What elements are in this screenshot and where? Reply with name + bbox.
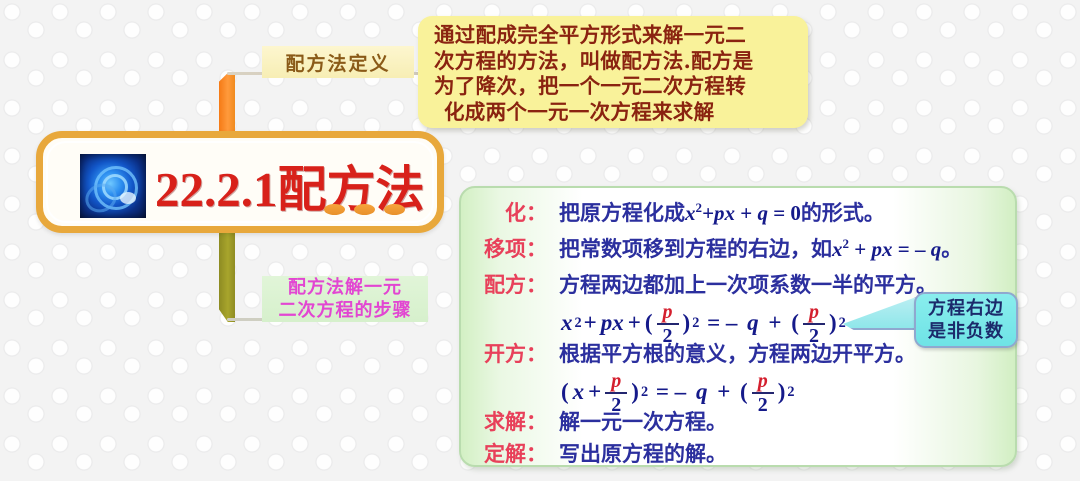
step-text-hua: 把原方程化成x2+px + q = 0的形式。: [559, 197, 885, 227]
definition-line-1: 通过配成完全平方形式来解一元二: [434, 23, 796, 49]
branch-label-definition-text: 配方法定义: [285, 49, 390, 76]
connector-to-steps: [219, 232, 235, 322]
mindmap-canvas: 22.2.1配方法 配方法定义 配方法解一元 二次方程的步骤 通过配成完全平方形…: [0, 0, 1080, 481]
step-row-qiujie: 求解： 解一元一次方程。: [461, 406, 727, 436]
callout-line-1: 方程右边: [928, 297, 1004, 320]
step-text-dingjie: 写出原方程的解。: [559, 438, 727, 468]
step-text-kaifang: 根据平方根的意义，方程两边开平方。: [559, 338, 916, 368]
step-key-hua: 化：: [461, 197, 547, 227]
branch-label-steps-line2: 二次方程的步骤: [279, 299, 412, 322]
branch-label-steps[interactable]: 配方法解一元 二次方程的步骤: [262, 276, 428, 322]
step-row-peifang: 配方： 方程两边都加上一次项系数一半的平方。: [461, 269, 937, 299]
central-topic-node[interactable]: 22.2.1配方法: [36, 131, 444, 233]
blue-rose-icon: [80, 154, 146, 218]
definition-line-4: 化成两个一元一次方程来求解: [434, 100, 796, 126]
step-row-yixiang: 移项： 把常数项移到方程的右边，如x2 + px = – q。: [461, 233, 962, 263]
decorative-dots: [324, 204, 405, 215]
step-key-peifang: 配方：: [461, 269, 547, 299]
step-row-kaifang: 开方： 根据平方根的意义，方程两边开平方。: [461, 338, 916, 368]
step-key-yixiang: 移项：: [461, 233, 547, 263]
step-key-dingjie: 定解：: [461, 438, 547, 468]
step-key-kaifang: 开方：: [461, 338, 547, 368]
step-row-hua: 化： 把原方程化成x2+px + q = 0的形式。: [461, 197, 885, 227]
branch-label-definition[interactable]: 配方法定义: [262, 46, 414, 78]
step-text-qiujie: 解一元一次方程。: [559, 406, 727, 436]
step-row-dingjie: 定解： 写出原方程的解。: [461, 438, 727, 468]
step-text-yixiang: 把常数项移到方程的右边，如x2 + px = – q。: [559, 233, 962, 263]
callout-bubble: 方程右边 是非负数: [914, 292, 1018, 348]
step-key-qiujie: 求解：: [461, 406, 547, 436]
definition-line-2: 次方程的方法，叫做配方法.配方是: [434, 49, 796, 75]
fraction-p-over-2-d: p2: [752, 371, 774, 415]
step-text-peifang: 方程两边都加上一次项系数一半的平方。: [559, 269, 937, 299]
title-number: 22.2.1: [155, 162, 278, 217]
definition-box: 通过配成完全平方形式来解一元二 次方程的方法，叫做配方法.配方是 为了降次，把一…: [418, 16, 808, 128]
branch-label-steps-line1: 配方法解一元: [288, 276, 402, 299]
callout-line-2: 是非负数: [928, 320, 1004, 343]
definition-line-3: 为了降次，把一个一元二次方程转: [434, 74, 796, 100]
connector-to-definition: [219, 73, 235, 135]
